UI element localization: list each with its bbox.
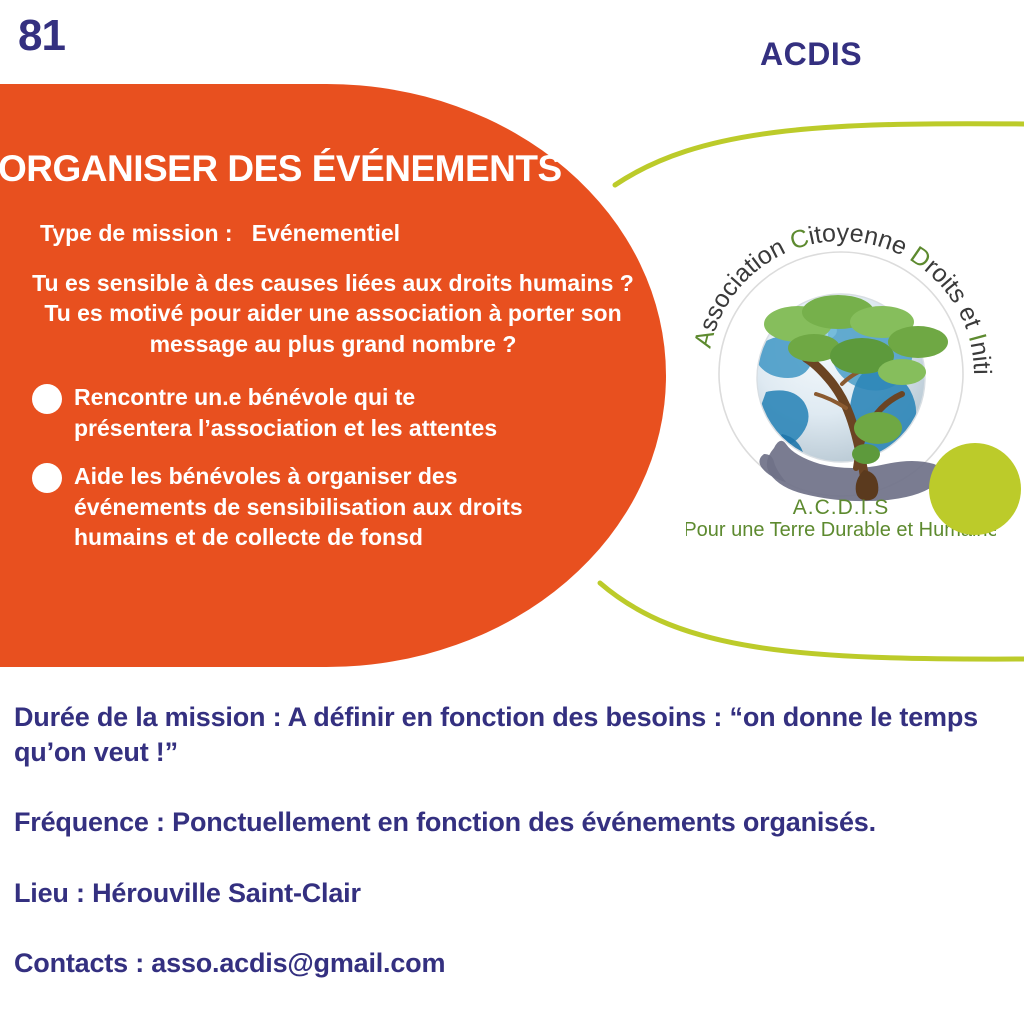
detail-duration: Durée de la mission : A définir en fonct… bbox=[14, 700, 1014, 769]
bullet-dot-icon bbox=[32, 463, 62, 493]
mission-title: ORGANISER DES ÉVÉNEMENTS bbox=[0, 150, 638, 189]
detail-location: Lieu : Hérouville Saint-Clair bbox=[14, 876, 1014, 911]
mission-task-list: Rencontre un.e bénévole qui te présenter… bbox=[32, 382, 632, 571]
lime-circle-accent bbox=[929, 443, 1021, 535]
organisation-name: ACDIS bbox=[760, 38, 862, 70]
mission-intro-line: Tu es sensible à des causes liées aux dr… bbox=[10, 268, 656, 298]
list-item: Aide les bénévoles à organiser des événe… bbox=[32, 461, 632, 553]
mission-details: Durée de la mission : A définir en fonct… bbox=[14, 700, 1014, 981]
mission-type-row: Type de mission : Evénementiel bbox=[40, 220, 640, 248]
list-item-label: Rencontre un.e bénévole qui te présenter… bbox=[74, 382, 526, 443]
bullet-dot-icon bbox=[32, 384, 62, 414]
mission-card: 81 ACDIS ORGANISER DES ÉVÉNEMENTS Type d… bbox=[0, 0, 1024, 1024]
logo-acronym: A.C.D.I.S bbox=[793, 496, 890, 519]
list-item-label: Aide les bénévoles à organiser des événe… bbox=[74, 461, 526, 553]
green-arc-top-icon bbox=[615, 124, 1024, 185]
list-item: Rencontre un.e bénévole qui te présenter… bbox=[32, 382, 632, 443]
mission-intro: Tu es sensible à des causes liées aux dr… bbox=[10, 268, 656, 359]
detail-frequency: Fréquence : Ponctuellement en fonction d… bbox=[14, 805, 1014, 840]
mission-type-value: Evénementiel bbox=[252, 220, 400, 246]
mission-type-label: Type de mission : bbox=[40, 220, 233, 246]
green-arc-bottom-icon bbox=[600, 583, 1024, 659]
mission-intro-line: Tu es motivé pour aider une association … bbox=[10, 298, 656, 328]
mission-intro-line: message au plus grand nombre ? bbox=[10, 329, 656, 359]
detail-contact[interactable]: Contacts : asso.acdis@gmail.com bbox=[14, 946, 1014, 981]
card-number: 81 bbox=[18, 14, 65, 58]
